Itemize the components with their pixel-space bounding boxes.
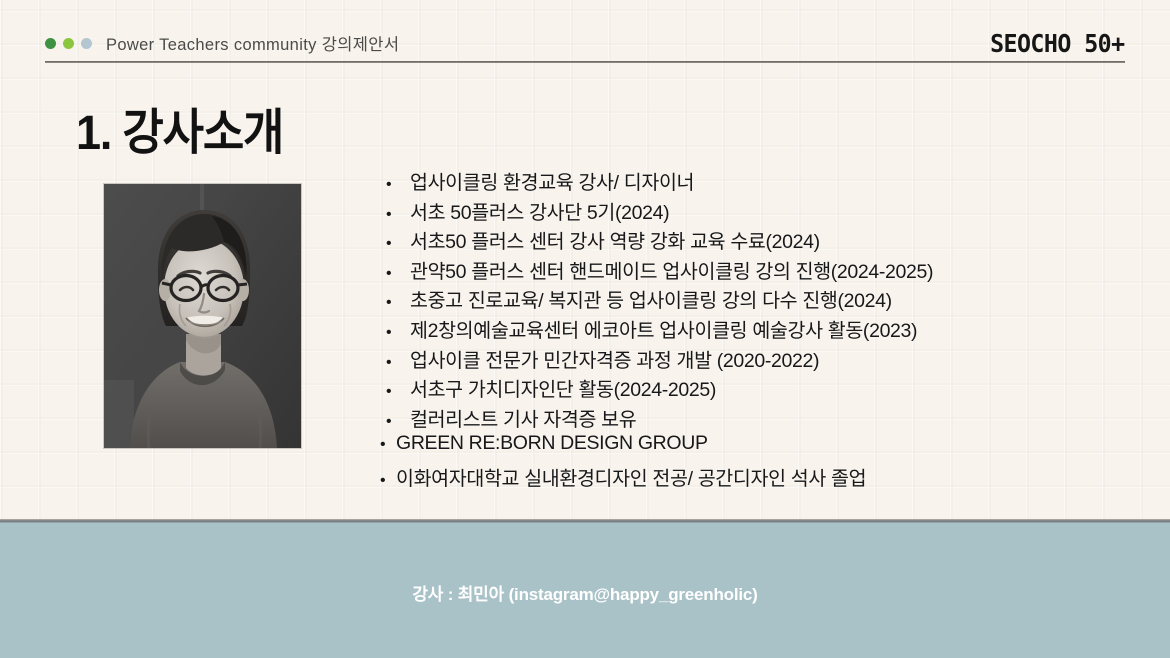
bullet-icon: • — [386, 177, 410, 193]
list-item-label: GREEN RE:BORN DESIGN GROUP — [396, 432, 708, 455]
header-divider — [45, 61, 1125, 63]
slide-content-area: Power Teachers community 강의제안서 SEOCHO 50… — [0, 0, 1170, 521]
brand-logo-seocho-50plus: SEOCHO 50+ — [991, 29, 1125, 58]
list-item-label: 컬러리스트 기사 자격증 보유 — [410, 403, 636, 432]
dot-dark-green-icon — [45, 38, 56, 49]
list-item-label: 초중고 진로교육/ 복지관 등 업사이클링 강의 다수 진행(2024) — [410, 284, 892, 313]
bullet-icon: • — [386, 355, 410, 371]
presentation-slide: Power Teachers community 강의제안서 SEOCHO 50… — [0, 0, 1170, 658]
bullet-icon: • — [386, 207, 410, 223]
list-item-label: 서초구 가치디자인단 활동(2024-2025) — [410, 373, 716, 402]
dot-blue-gray-icon — [81, 38, 92, 49]
list-item: • 업사이클 전문가 민간자격증 과정 개발 (2020-2022) — [386, 344, 1146, 374]
slide-footer-band: 강사 : 최민아 (instagram@happy_greenholic) — [0, 523, 1170, 658]
list-item: • 컬러리스트 기사 자격증 보유 — [386, 403, 1146, 433]
page-title: 1. 강사소개 — [76, 93, 283, 163]
portrait-image — [104, 184, 301, 448]
list-item: • 초중고 진로교육/ 복지관 등 업사이클링 강의 다수 진행(2024) — [386, 284, 1146, 314]
instructor-portrait-photo — [104, 184, 301, 448]
footer-instructor-contact: 강사 : 최민아 (instagram@happy_greenholic) — [0, 580, 1170, 605]
bullet-icon: • — [386, 295, 410, 311]
slide-header: Power Teachers community 강의제안서 SEOCHO 50… — [45, 24, 1125, 62]
list-item: • 서초구 가치디자인단 활동(2024-2025) — [386, 373, 1146, 403]
list-item-label: 업사이클링 환경교육 강사/ 디자이너 — [410, 166, 694, 195]
list-item-label: 이화여자대학교 실내환경디자인 전공/ 공간디자인 석사 졸업 — [396, 462, 866, 491]
list-item-label: 업사이클 전문가 민간자격증 과정 개발 (2020-2022) — [410, 344, 819, 373]
list-item: • 업사이클링 환경교육 강사/ 디자이너 — [386, 166, 1146, 196]
list-item-label: 관약50 플러스 센터 핸드메이드 업사이클링 강의 진행(2024-2025) — [410, 255, 933, 284]
header-title: Power Teachers community 강의제안서 — [106, 31, 399, 55]
bullet-icon: • — [380, 437, 396, 453]
bullet-icon: • — [386, 414, 410, 430]
list-item: • 서초 50플러스 강사단 5기(2024) — [386, 196, 1146, 226]
header-dots-group — [45, 38, 92, 49]
bullet-icon: • — [386, 384, 410, 400]
list-item: • 서초50 플러스 센터 강사 역량 강화 교육 수료(2024) — [386, 225, 1146, 255]
list-item-label: 서초50 플러스 센터 강사 역량 강화 교육 수료(2024) — [410, 225, 820, 254]
bullet-icon: • — [386, 266, 410, 282]
bullet-icon: • — [380, 473, 396, 489]
instructor-credentials-list: • 업사이클링 환경교육 강사/ 디자이너 • 서초 50플러스 강사단 5기(… — [386, 166, 1146, 492]
list-item: • 관약50 플러스 센터 핸드메이드 업사이클링 강의 진행(2024-202… — [386, 255, 1146, 285]
list-item: • 이화여자대학교 실내환경디자인 전공/ 공간디자인 석사 졸업 — [380, 462, 1146, 492]
list-item-label: 제2창의예술교육센터 에코아트 업사이클링 예술강사 활동(2023) — [410, 314, 917, 343]
list-item: • GREEN RE:BORN DESIGN GROUP — [380, 432, 1146, 462]
list-item-label: 서초 50플러스 강사단 5기(2024) — [410, 196, 669, 225]
bullet-icon: • — [386, 325, 410, 341]
list-item: • 제2창의예술교육센터 에코아트 업사이클링 예술강사 활동(2023) — [386, 314, 1146, 344]
dot-light-green-icon — [63, 38, 74, 49]
bullet-icon: • — [386, 236, 410, 252]
